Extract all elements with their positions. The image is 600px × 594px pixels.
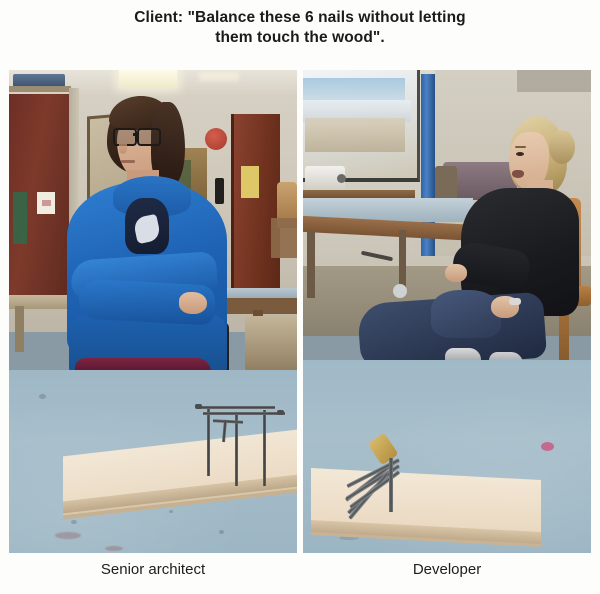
person-hair-bun [549,130,575,164]
lab-table-leg-right [399,230,406,290]
brown-door [231,114,280,292]
wall-shelf [9,86,71,92]
bundled-nail-hack [327,408,437,508]
balanced-nail-structure [189,390,297,486]
background-chair-2 [435,166,457,200]
back-table-right-2 [245,316,297,374]
person-nose [119,144,127,154]
meme-image: Client: "Balance these 6 nails without l… [0,0,600,594]
brown-door-sign [241,166,259,198]
glasses-icon [113,128,163,143]
door-green-sign [13,192,27,244]
person-hand-left [445,264,467,282]
panel-developer [303,70,591,553]
panel-senior-architect [9,70,297,553]
back-counter-leg [15,306,24,352]
label-senior-architect: Senior architect [9,557,297,587]
ceiling-light-icon [119,70,177,88]
caption-line-2: them touch the wood". [0,28,600,48]
lab-table-wheel [393,284,407,298]
label-developer: Developer [303,557,591,587]
glasses-right-lens [137,128,161,146]
panel-labels: Senior architect Developer [9,557,591,587]
projected-image-ground [305,118,405,152]
lab-table-leg-left [307,232,315,298]
pink-marker-spot [541,442,554,451]
caption-line-1: Client: "Balance these 6 nails without l… [0,8,600,28]
standing-nail [389,458,393,512]
wall-device [215,178,224,204]
panel-row [9,70,591,553]
wall-red-sign-icon [205,128,227,150]
ceiling-light-secondary-icon [199,72,239,81]
projector-lens-icon [337,174,346,183]
door-paper-notice [37,192,55,214]
wristwatch-icon [509,298,521,305]
person-mouth [121,160,135,163]
person-mouth [512,170,524,178]
person-hand [179,292,207,314]
caption: Client: "Balance these 6 nails without l… [0,8,600,49]
corner-object-2 [271,218,297,258]
wall-shadow [517,70,591,92]
person-eye [516,152,524,156]
jeans-knee [431,290,501,338]
person-eyebrow [515,146,526,148]
